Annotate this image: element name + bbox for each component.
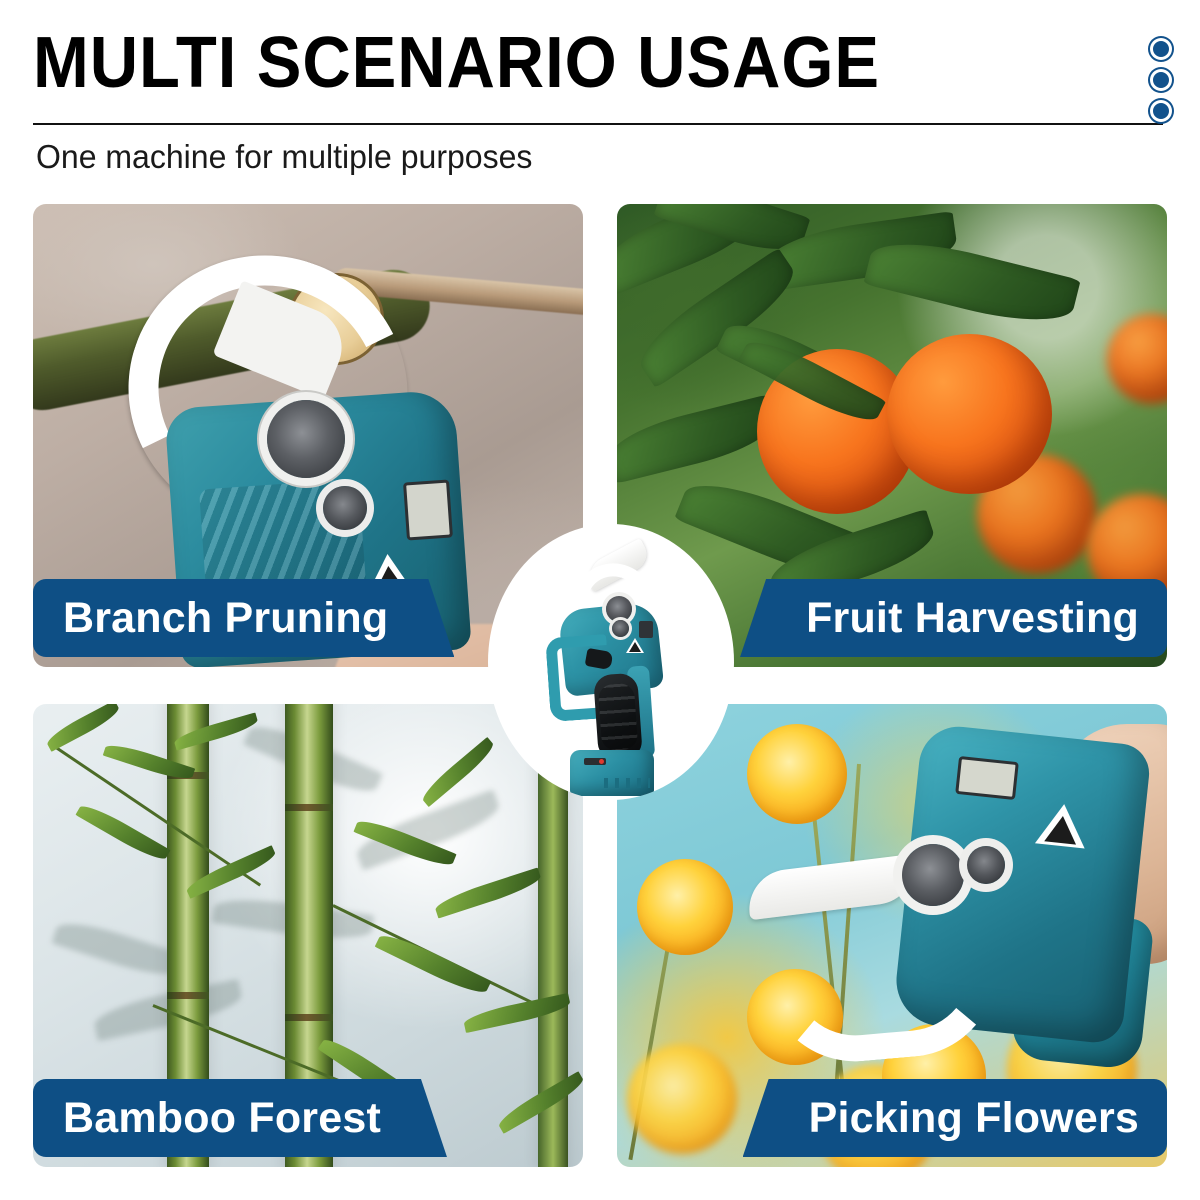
banner-bamboo-forest[interactable]: Bamboo Forest xyxy=(33,1079,447,1157)
product-vents xyxy=(604,778,650,788)
product-secondary-gear xyxy=(612,620,629,637)
title-divider xyxy=(33,123,1163,125)
orange-fruit xyxy=(887,334,1052,494)
leaf-shadow xyxy=(52,915,185,984)
product-power-led xyxy=(584,758,606,765)
banner-label-fruit-harvesting: Fruit Harvesting xyxy=(806,595,1139,641)
pruner-lcd-display xyxy=(403,479,453,540)
banner-label-picking-flowers: Picking Flowers xyxy=(809,1095,1139,1141)
dot-indicator-1 xyxy=(1150,38,1172,60)
yellow-flower xyxy=(627,1044,737,1154)
bamboo-node xyxy=(167,992,209,999)
pruner-upper-blade xyxy=(745,854,919,920)
page-subtitle: One machine for multiple purposes xyxy=(36,136,532,178)
banner-label-bamboo-forest: Bamboo Forest xyxy=(63,1095,381,1141)
header: MULTI SCENARIO USAGE One machine for mul… xyxy=(0,0,1200,195)
bamboo-leaf xyxy=(433,867,543,918)
bamboo-leaf xyxy=(75,800,170,865)
product-lcd-display xyxy=(639,621,653,638)
banner-picking-flowers[interactable]: Picking Flowers xyxy=(743,1079,1167,1157)
product-main-gear xyxy=(606,596,632,622)
dot-indicator-group xyxy=(1150,38,1172,122)
pruner-main-gear xyxy=(267,400,345,478)
bamboo-node xyxy=(285,804,333,811)
scenario-card-branch-pruning[interactable]: Branch Pruning xyxy=(33,204,583,667)
dot-indicator-2 xyxy=(1150,69,1172,91)
warning-triangle-icon xyxy=(626,638,644,653)
banner-fruit-harvesting[interactable]: Fruit Harvesting xyxy=(740,579,1167,657)
bamboo-leaf xyxy=(375,929,492,1000)
leaf xyxy=(863,229,1080,334)
product-grip-texture xyxy=(598,683,639,751)
pruner-lcd-display xyxy=(955,756,1019,800)
yellow-flower xyxy=(637,859,733,955)
product-battery-base xyxy=(570,750,654,796)
leaf xyxy=(617,394,781,484)
scenario-card-picking-flowers[interactable]: Picking Flowers xyxy=(617,704,1167,1167)
dot-indicator-3 xyxy=(1150,100,1172,122)
warning-triangle-icon xyxy=(1035,802,1089,849)
banner-branch-pruning[interactable]: Branch Pruning xyxy=(33,579,454,657)
bamboo-node xyxy=(285,1014,333,1021)
page-title: MULTI SCENARIO USAGE xyxy=(33,24,880,102)
center-product-circle[interactable] xyxy=(488,524,734,800)
pruner-secondary-gear xyxy=(967,846,1005,884)
yellow-flower xyxy=(747,724,847,824)
pruner-secondary-gear xyxy=(323,486,367,530)
banner-label-branch-pruning: Branch Pruning xyxy=(63,595,388,641)
pruner-main-gear xyxy=(902,844,964,906)
orange-fruit xyxy=(1107,314,1167,404)
scenario-card-bamboo-forest[interactable]: Bamboo Forest xyxy=(33,704,583,1167)
